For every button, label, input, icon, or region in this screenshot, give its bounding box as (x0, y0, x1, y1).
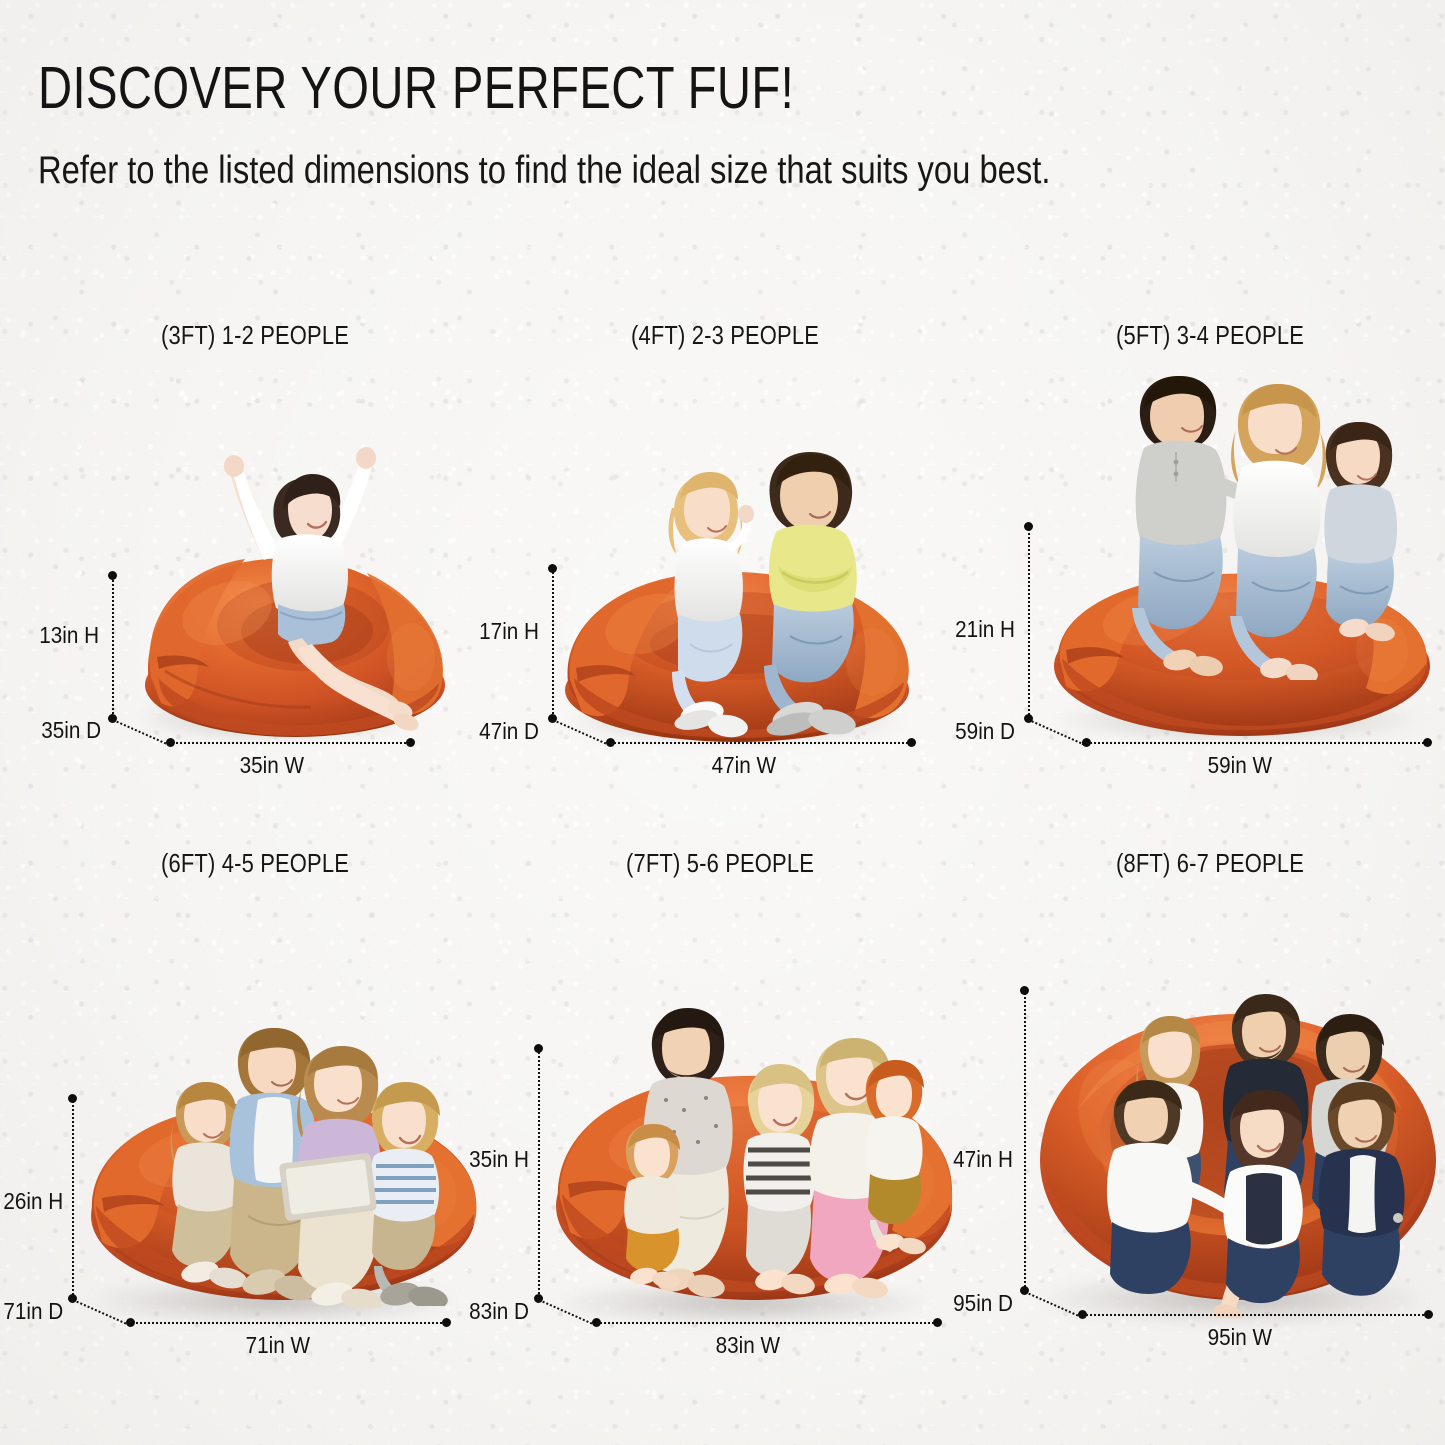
dim-height-3ft: 13in H (11, 622, 99, 649)
product-illustration-6ft: 26in H 71in D 71in W (40, 850, 470, 1350)
model-person-3c (1302, 410, 1432, 660)
page-subtitle: Refer to the listed dimensions to find t… (38, 144, 1231, 198)
dim-height-5ft: 21in H (925, 616, 1015, 643)
product-illustration-3ft: 13in H 35in D 35in W (40, 322, 470, 792)
dim-width-5ft: 59in W (1208, 752, 1272, 779)
model-person-5b (598, 1118, 708, 1298)
model-person-2b (736, 440, 906, 740)
dim-depth-3ft: 35in D (13, 717, 101, 744)
page-title: DISCOVER YOUR PERFECT FUF! (38, 58, 1038, 118)
product-cell-6ft: (6FT) 4-5 PEOPLE (40, 850, 470, 1350)
product-illustration-5ft: 21in H 59in D 59in W (980, 322, 1440, 792)
product-cell-8ft: (8FT) 6-7 PEOPLE (980, 850, 1440, 1350)
dim-width-8ft: 95in W (1208, 1324, 1272, 1351)
product-cell-5ft: (5FT) 3-4 PEOPLE (980, 322, 1440, 792)
product-cell-3ft: (3FT) 1-2 PEOPLE (40, 322, 470, 792)
dim-height-7ft: 35in H (439, 1146, 529, 1173)
product-cell-7ft: (7FT) 5-6 PEOPLE (490, 850, 950, 1350)
dim-width-6ft: 71in W (246, 1332, 310, 1359)
product-illustration-4ft: 17in H 47in D 47in W (500, 322, 950, 792)
product-illustration-7ft: 35in H 83in D 83in W (490, 850, 950, 1350)
dim-width-7ft: 83in W (716, 1332, 780, 1359)
dim-depth-6ft: 71in D (0, 1298, 63, 1325)
dim-height-6ft: 26in H (0, 1188, 63, 1215)
dim-depth-5ft: 59in D (925, 718, 1015, 745)
model-person-6f (1302, 1080, 1442, 1300)
dim-height-8ft: 47in H (923, 1146, 1013, 1173)
dim-width-3ft: 35in W (240, 752, 304, 779)
product-illustration-8ft: 47in H 95in D 95in W (980, 850, 1440, 1350)
dim-depth-4ft: 47in D (449, 718, 539, 745)
header: DISCOVER YOUR PERFECT FUF! Refer to the … (38, 58, 1288, 198)
prop-tablet (276, 1150, 386, 1230)
dim-width-4ft: 47in W (712, 752, 776, 779)
product-cell-4ft: (4FT) 2-3 PEOPLE (500, 322, 950, 792)
model-person-1 (190, 412, 420, 742)
dim-height-4ft: 17in H (449, 618, 539, 645)
dim-depth-7ft: 83in D (439, 1298, 529, 1325)
dim-depth-8ft: 95in D (923, 1290, 1013, 1317)
